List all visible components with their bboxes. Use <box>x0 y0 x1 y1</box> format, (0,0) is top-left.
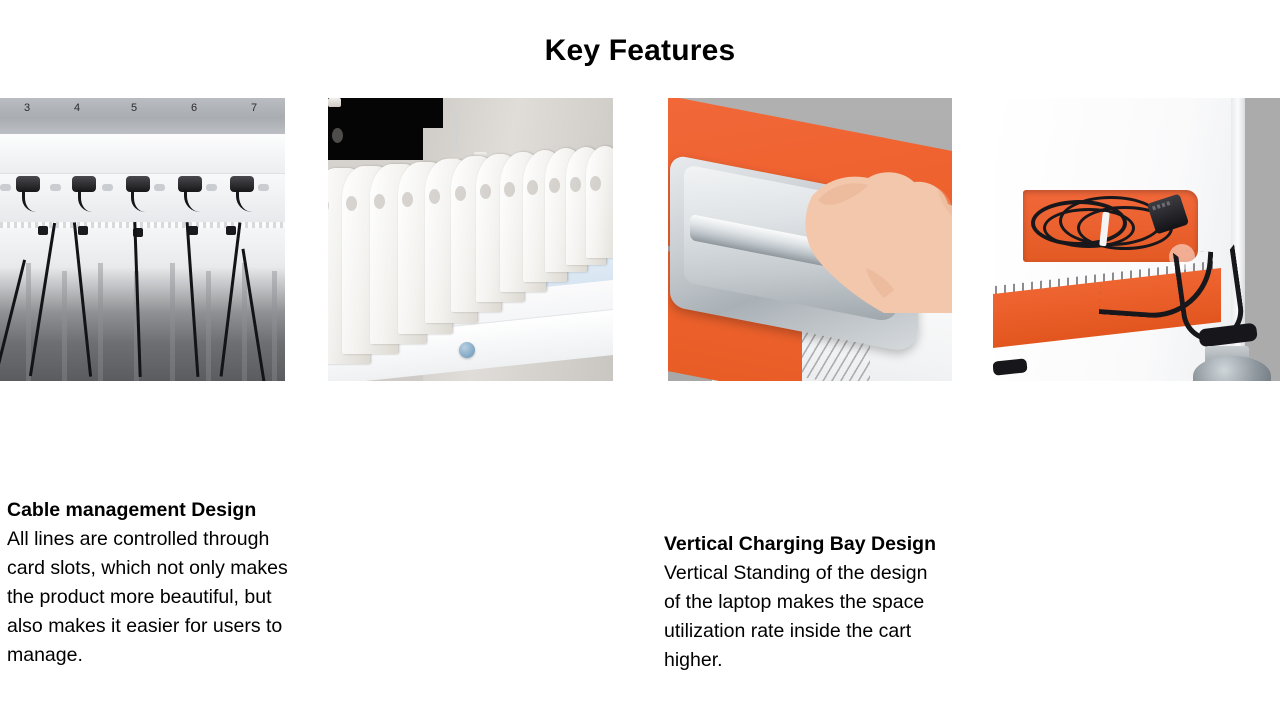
slot-number-strip: 3 4 5 6 7 <box>0 98 285 134</box>
feature-heading: Vertical Charging Bay Design <box>664 530 946 559</box>
slot-number: 6 <box>191 102 197 114</box>
slot-number: 3 <box>24 102 30 114</box>
feature-column-cable-pocket-design: Cable Pocket Design Reasonable cable poc… <box>993 98 1280 381</box>
thin-rod <box>456 108 458 150</box>
feature-caption: Vertical Charging Bay Design Vertical St… <box>664 530 946 675</box>
dark-opening <box>328 98 423 160</box>
feature-paragraph: All lines are controlled through card sl… <box>7 525 289 670</box>
feature-column-cable-management: 3 4 5 6 7 <box>0 98 285 381</box>
clip <box>328 98 341 107</box>
cable-pocket-photo <box>993 98 1280 381</box>
slot-number: 5 <box>131 102 137 114</box>
vertical-charging-bay-photo <box>328 98 613 381</box>
feature-column-child-safe-design: Child-safe design Child-safe design, smo… <box>668 98 952 381</box>
slot-number: 7 <box>251 102 257 114</box>
slot-number: 4 <box>74 102 80 114</box>
hand-illustration <box>788 148 952 313</box>
feature-paragraph: Vertical Standing of the design of the l… <box>664 559 946 675</box>
shelf-edge <box>0 134 285 174</box>
slide: Key Features 3 4 5 6 7 <box>0 0 1280 720</box>
feature-caption: Cable management Design All lines are co… <box>7 496 289 670</box>
cable-management-photo: 3 4 5 6 7 <box>0 98 285 381</box>
page-title: Key Features <box>0 34 1280 68</box>
feature-column-vertical-charging-bay: Vertical Charging Bay Design Vertical St… <box>328 98 613 381</box>
child-safe-handle-photo <box>668 98 952 381</box>
feature-heading: Cable management Design <box>7 496 289 525</box>
dark-opening-notch <box>423 98 443 128</box>
blue-knob <box>459 342 475 358</box>
